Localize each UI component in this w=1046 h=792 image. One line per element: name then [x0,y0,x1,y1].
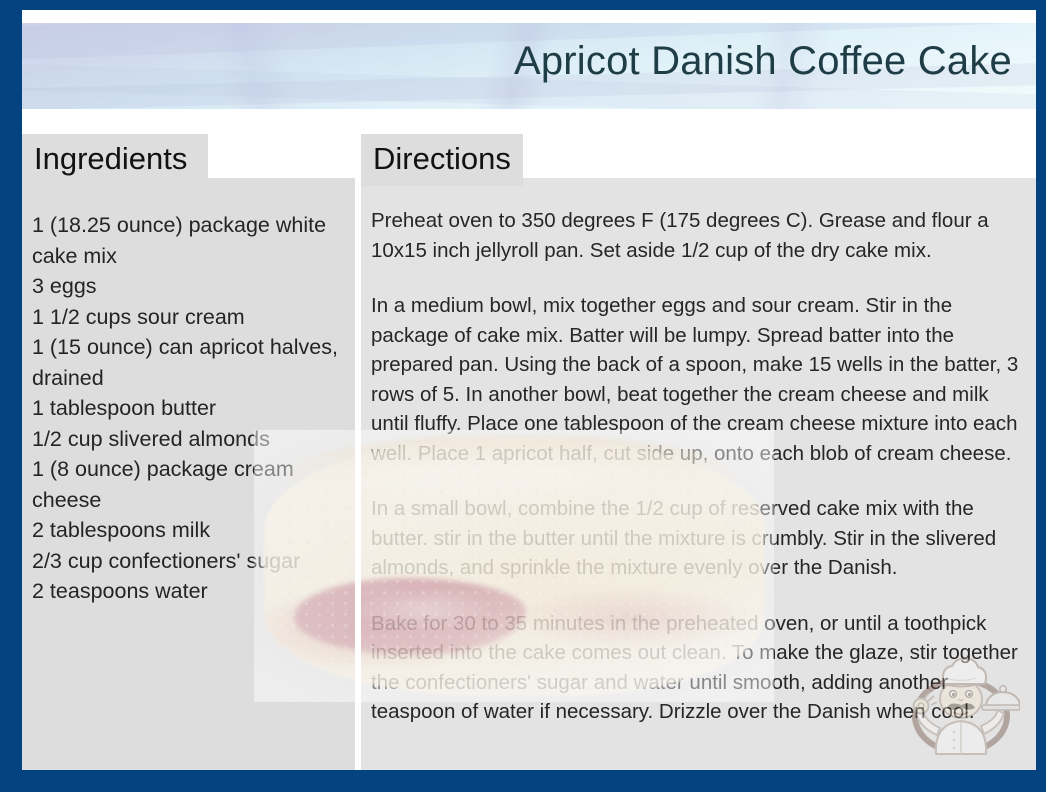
title-banner: Apricot Danish Coffee Cake [22,23,1036,109]
list-item: 1 (18.25 ounce) package white cake mix [32,210,341,271]
list-item: 2 tablespoons milk [32,515,341,546]
list-item: 2 teaspoons water [32,576,341,607]
direction-step: Preheat oven to 350 degrees F (175 degre… [371,206,1020,265]
direction-step: In a medium bowl, mix together eggs and … [371,291,1020,468]
directions-heading: Directions [361,134,523,186]
ingredients-panel: 1 (18.25 ounce) package white cake mix 3… [22,178,355,770]
directions-body: Preheat oven to 350 degrees F (175 degre… [371,206,1020,727]
ingredients-heading: Ingredients [22,134,208,186]
directions-panel: Preheat oven to 350 degrees F (175 degre… [361,178,1036,770]
card-border-right [1036,0,1046,792]
direction-step: In a small bowl, combine the 1/2 cup of … [371,494,1020,583]
list-item: 1 1/2 cups sour cream [32,302,341,333]
recipe-page: Apricot Danish Coffee Cake Ingredients 1… [22,10,1036,770]
list-item: 1 tablespoon butter [32,393,341,424]
card-border-left [0,0,22,792]
list-item: 2/3 cup confectioners' sugar [32,546,341,577]
list-item: 1 (8 ounce) package cream cheese [32,454,341,515]
direction-step: Bake for 30 to 35 minutes in the preheat… [371,609,1020,727]
recipe-card: Apricot Danish Coffee Cake Ingredients 1… [0,0,1046,792]
page-title: Apricot Danish Coffee Cake [514,39,1012,84]
card-border-bottom [0,770,1046,792]
column-divider [355,178,361,770]
ingredients-list: 1 (18.25 ounce) package white cake mix 3… [32,210,341,607]
list-item: 3 eggs [32,271,341,302]
list-item: 1 (15 ounce) can apricot halves, drained [32,332,341,393]
card-border-top [0,0,1046,10]
list-item: 1/2 cup slivered almonds [32,424,341,455]
